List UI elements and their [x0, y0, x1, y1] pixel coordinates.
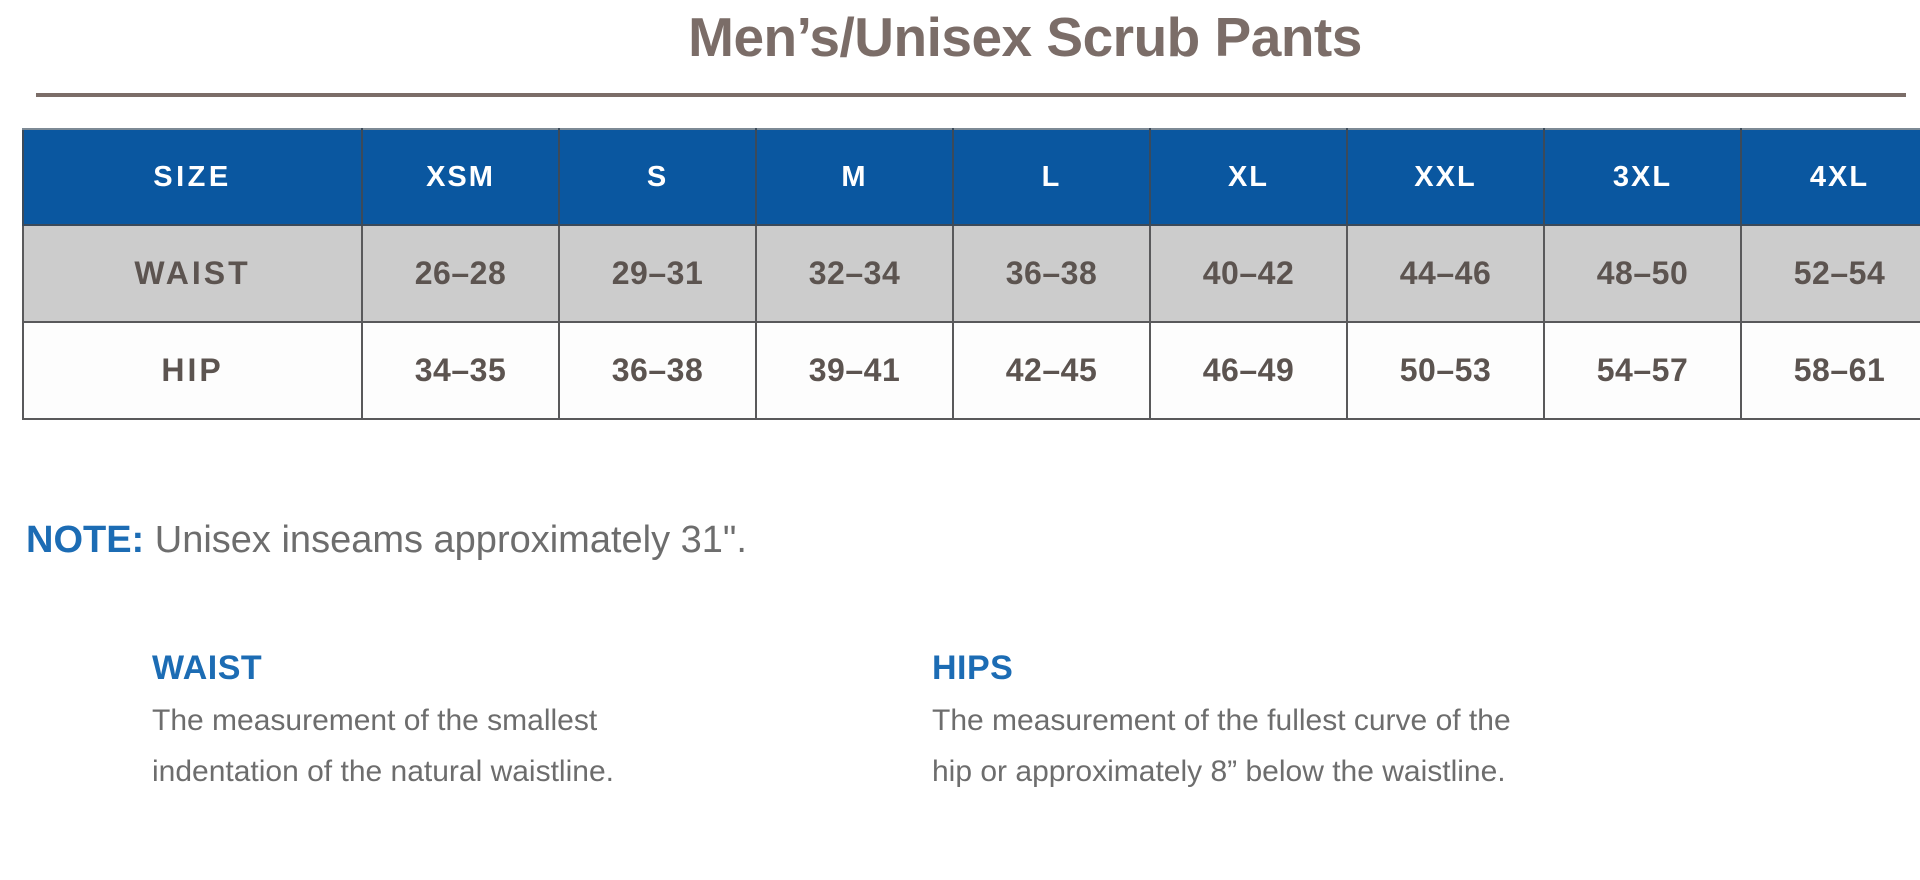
column-header-xsm: XSM: [362, 129, 559, 225]
cell-hip-s: 36–38: [559, 322, 756, 419]
column-header-4xl: 4XL: [1741, 129, 1920, 225]
column-header-xl: XL: [1150, 129, 1347, 225]
title-divider: [36, 93, 1906, 97]
column-header-3xl: 3XL: [1544, 129, 1741, 225]
definition-waist-line-2: indentation of the natural waistline.: [152, 746, 792, 797]
size-chart-page: Men’s/Unisex Scrub Pants SIZE XSM S M L …: [0, 0, 1920, 880]
definition-body-waist: The measurement of the smallest indentat…: [152, 695, 792, 797]
cell-waist-3xl: 48–50: [1544, 225, 1741, 322]
column-header-s: S: [559, 129, 756, 225]
table-row: WAIST 26–28 29–31 32–34 36–38 40–42 44–4…: [23, 225, 1920, 322]
cell-hip-l: 42–45: [953, 322, 1150, 419]
table-body: WAIST 26–28 29–31 32–34 36–38 40–42 44–4…: [23, 225, 1920, 419]
cell-waist-m: 32–34: [756, 225, 953, 322]
table-row: HIP 34–35 36–38 39–41 42–45 46–49 50–53 …: [23, 322, 1920, 419]
cell-waist-4xl: 52–54: [1741, 225, 1920, 322]
cell-waist-l: 36–38: [953, 225, 1150, 322]
cell-hip-xl: 46–49: [1150, 322, 1347, 419]
table-header-row: SIZE XSM S M L XL XXL 3XL 4XL 5XL: [23, 129, 1920, 225]
note-text: Unisex inseams approximately 31".: [144, 519, 747, 561]
cell-hip-xsm: 34–35: [362, 322, 559, 419]
definition-waist-line-1: The measurement of the smallest: [152, 695, 792, 746]
definition-waist: WAIST The measurement of the smallest in…: [152, 645, 792, 797]
cell-waist-xl: 40–42: [1150, 225, 1347, 322]
definition-heading-hips: HIPS: [932, 645, 1732, 691]
cell-waist-s: 29–31: [559, 225, 756, 322]
row-label-waist: WAIST: [23, 225, 362, 322]
row-label-hip: HIP: [23, 322, 362, 419]
cell-waist-xxl: 44–46: [1347, 225, 1544, 322]
column-header-l: L: [953, 129, 1150, 225]
cell-hip-3xl: 54–57: [1544, 322, 1741, 419]
definition-body-hips: The measurement of the fullest curve of …: [932, 695, 1732, 797]
size-chart-table: SIZE XSM S M L XL XXL 3XL 4XL 5XL WAIST …: [22, 128, 1920, 420]
cell-hip-xxl: 50–53: [1347, 322, 1544, 419]
definition-heading-waist: WAIST: [152, 645, 792, 691]
definitions-container: WAIST The measurement of the smallest in…: [152, 645, 1852, 797]
title-container: Men’s/Unisex Scrub Pants: [0, 2, 1870, 72]
column-header-m: M: [756, 129, 953, 225]
note-line: NOTE: Unisex inseams approximately 31".: [26, 516, 747, 564]
definition-hips: HIPS The measurement of the fullest curv…: [932, 645, 1732, 797]
cell-waist-xsm: 26–28: [362, 225, 559, 322]
note-label: NOTE:: [26, 519, 144, 561]
definition-hips-line-1: The measurement of the fullest curve of …: [932, 695, 1732, 746]
cell-hip-m: 39–41: [756, 322, 953, 419]
definition-hips-line-2: hip or approximately 8” below the waistl…: [932, 746, 1732, 797]
cell-hip-4xl: 58–61: [1741, 322, 1920, 419]
page-title: Men’s/Unisex Scrub Pants: [688, 2, 1362, 72]
column-header-xxl: XXL: [1347, 129, 1544, 225]
column-header-size: SIZE: [23, 129, 362, 225]
table-header: SIZE XSM S M L XL XXL 3XL 4XL 5XL: [23, 129, 1920, 225]
